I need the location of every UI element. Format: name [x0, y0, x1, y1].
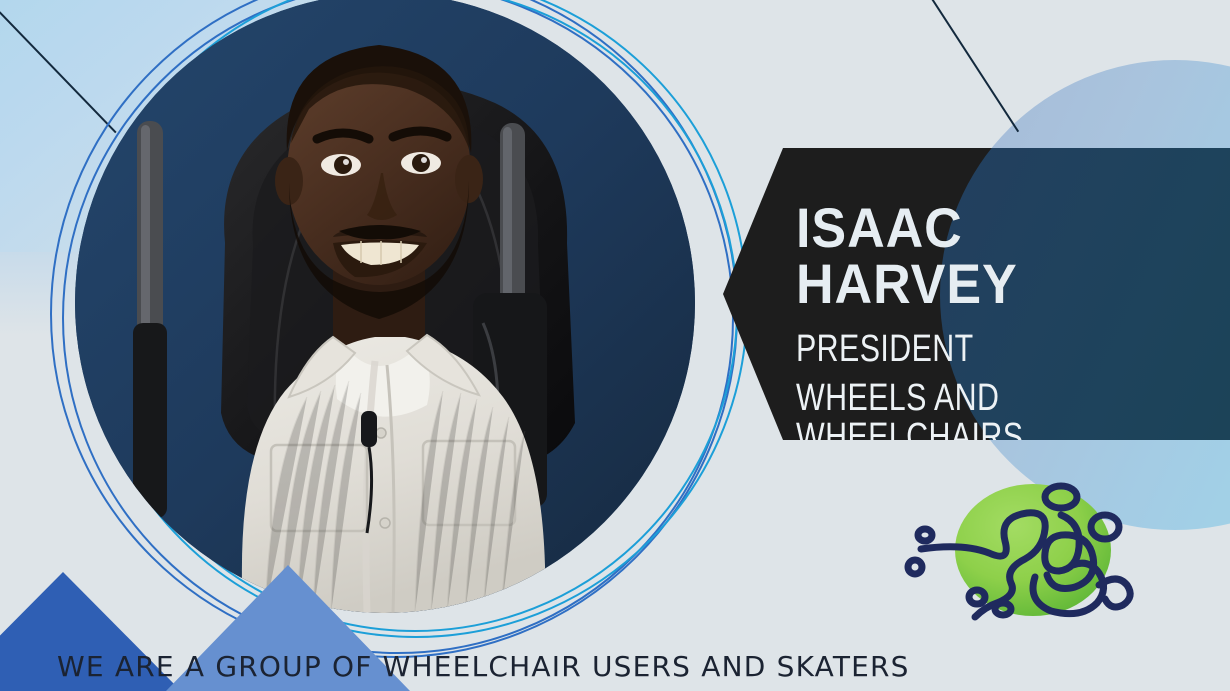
- slide-caption: WE ARE A GROUP OF WHEELCHAIR USERS AND S…: [57, 650, 910, 683]
- speaker-role: PRESIDENT: [796, 330, 1143, 369]
- diagonal-line-right: [930, 0, 1019, 132]
- speaker-name: ISAAC HARVEY: [796, 200, 1200, 312]
- speaker-info-text: ISAAC HARVEY PRESIDENT WHEELS AND WHEELC…: [796, 200, 1230, 456]
- speaker-portrait: [75, 0, 695, 613]
- diagonal-line-left: [0, 6, 117, 133]
- speaker-info-banner: ISAAC HARVEY PRESIDENT WHEELS AND WHEELC…: [723, 148, 1230, 440]
- speaker-organization: WHEELS AND WHEELCHAIRS: [796, 379, 1143, 457]
- presentation-slide: ISAAC HARVEY PRESIDENT WHEELS AND WHEELC…: [0, 0, 1230, 691]
- wheels-and-wheelchairs-logo: [893, 467, 1143, 632]
